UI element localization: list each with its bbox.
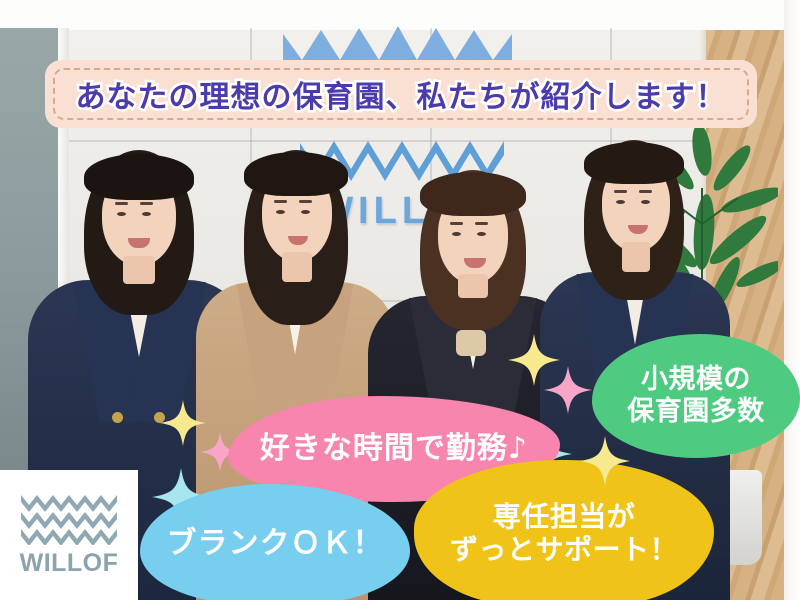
willof-wordmark: WILLOF — [20, 549, 119, 578]
sparkle-pink-mid-icon — [544, 366, 592, 414]
headline-text: あなたの理想の保育園、私たちが紹介します！ — [76, 72, 727, 116]
wall-right-strip — [784, 0, 800, 600]
bubble-small-nursery-line-2: 保育園多数 — [627, 396, 765, 428]
bubble-small-nursery-line-1: 小規模の — [627, 364, 765, 396]
sparkle-yellow-right-icon — [580, 436, 630, 486]
bubble-flexible-hours-line-1: 好きな時間で勤務♪ — [260, 431, 528, 466]
bubble-blank-ok-line-1: ブランクＯＫ！ — [167, 526, 384, 561]
bubble-dedicated-support-line-2: ずっとサポート！ — [450, 533, 678, 566]
willof-zigzag-icon — [21, 493, 117, 545]
wall-zigzag-top-icon — [283, 22, 513, 62]
willof-logo-card: WILLOF — [0, 470, 138, 600]
bubble-dedicated-support: 専任担当が ずっとサポート！ — [414, 460, 714, 600]
poster-canvas: WILLOF — [0, 0, 800, 600]
headline-banner: あなたの理想の保育園、私たちが紹介します！ — [45, 60, 757, 128]
bubble-dedicated-support-line-1: 専任担当が — [450, 500, 678, 533]
